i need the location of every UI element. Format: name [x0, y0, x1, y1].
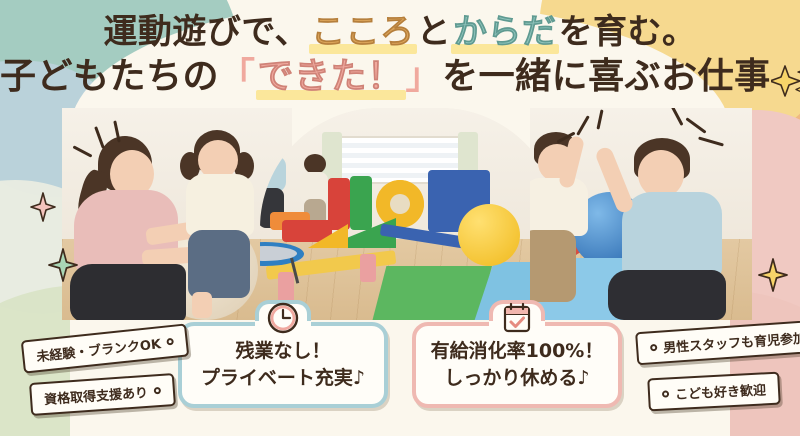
tag-qualification-support-label: 資格取得支援あり	[43, 382, 148, 408]
sparkle-pink-icon	[30, 192, 56, 222]
tag-kids-welcome: こども好き歓迎	[647, 372, 781, 412]
exercise-ball-yellow	[458, 204, 520, 266]
bracket-open: 「	[219, 56, 256, 97]
legs-black-pants	[608, 270, 726, 320]
block-green	[350, 176, 372, 230]
recruitment-banner: 運動遊びで、こころとからだを育む。 子どもたちの「できた！」を一緒に喜ぶお仕事	[0, 0, 800, 436]
calendar-check-icon	[500, 301, 534, 340]
tag-hole-icon	[650, 344, 657, 351]
panel-no-overtime: 残業なし！ プライベート充実♪	[178, 322, 388, 408]
photo-high-five	[530, 108, 752, 320]
tag-male-staff-label: 男性スタッフも育児参加中！	[663, 326, 800, 357]
headline-segment-plain-1: 運動遊びで、	[103, 12, 309, 52]
torso-blue-polo	[622, 192, 722, 280]
legs-black-pants	[70, 264, 186, 320]
tag-male-staff: 男性スタッフも育児参加中！	[635, 318, 800, 366]
headline-sparkle-group	[771, 63, 800, 93]
photo-staff-with-child-on-ball	[62, 108, 292, 320]
tag-hole-icon	[166, 338, 174, 346]
headline-segment-oshigoto: を一緒に喜ぶお仕事	[442, 56, 771, 97]
headline-segment-karada: からだ	[451, 12, 559, 53]
tag-hole-icon	[662, 390, 669, 397]
legs-denim	[188, 230, 250, 298]
tag-kids-welcome-label: こども好き歓迎	[675, 379, 767, 403]
torso	[260, 156, 286, 192]
photo-collage	[62, 108, 752, 320]
tag-experience-ok: 未経験・ブランクOK	[21, 323, 190, 373]
ring-yellow-hole	[390, 194, 410, 214]
headline-segment-plain-2: を育む。	[559, 12, 697, 52]
sparkle-green-icon	[48, 248, 78, 282]
headline-segment-dekita: できた！	[256, 55, 406, 99]
headline-segment-kokoro: こころ	[309, 12, 417, 53]
tag-hole-icon	[154, 387, 161, 394]
tag-experience-ok-label: 未経験・ブランクOK	[35, 333, 161, 365]
torso-white-shirt	[186, 174, 254, 236]
tag-qualification-support: 資格取得支援あり	[29, 373, 176, 416]
headline-line-2: 子どもたちの「できた！」を一緒に喜ぶお仕事	[0, 55, 800, 99]
sparkle-gold-right-icon	[758, 258, 788, 292]
beam-support-pink-2	[360, 254, 376, 282]
panel-2-line-2: しっかり休める♪	[416, 367, 618, 390]
mat-green-floor	[372, 266, 492, 320]
accent-strokes-left	[66, 126, 126, 176]
clock-icon	[266, 301, 300, 340]
headline-block: 運動遊びで、こころとからだを育む。 子どもたちの「できた！」を一緒に喜ぶお仕事	[0, 12, 800, 99]
panel-paid-leave: 有給消化率100%！ しっかり休める♪	[412, 322, 622, 408]
panel-1-line-2: プライベート充実♪	[182, 367, 384, 390]
accent-strokes-upper-right	[664, 110, 730, 168]
panel-2-line-1: 有給消化率100%！	[416, 340, 618, 363]
torso	[300, 172, 328, 202]
headline-segment-to: と	[417, 12, 452, 52]
panel-1-line-1: 残業なし！	[182, 340, 384, 363]
foot	[192, 292, 212, 318]
headline-line-1: 運動遊びで、こころとからだを育む。	[0, 12, 800, 53]
person-child-girl	[170, 130, 266, 320]
headline-segment-kodomo: 子どもたちの	[0, 56, 219, 97]
hair	[304, 154, 326, 174]
legs-khaki	[530, 230, 576, 302]
torso-white-shirt	[530, 178, 588, 236]
bracket-close: 」	[406, 56, 443, 97]
hair	[260, 136, 282, 158]
accent-strokes-upper-left	[556, 114, 612, 160]
photo-gym-room	[260, 108, 560, 320]
